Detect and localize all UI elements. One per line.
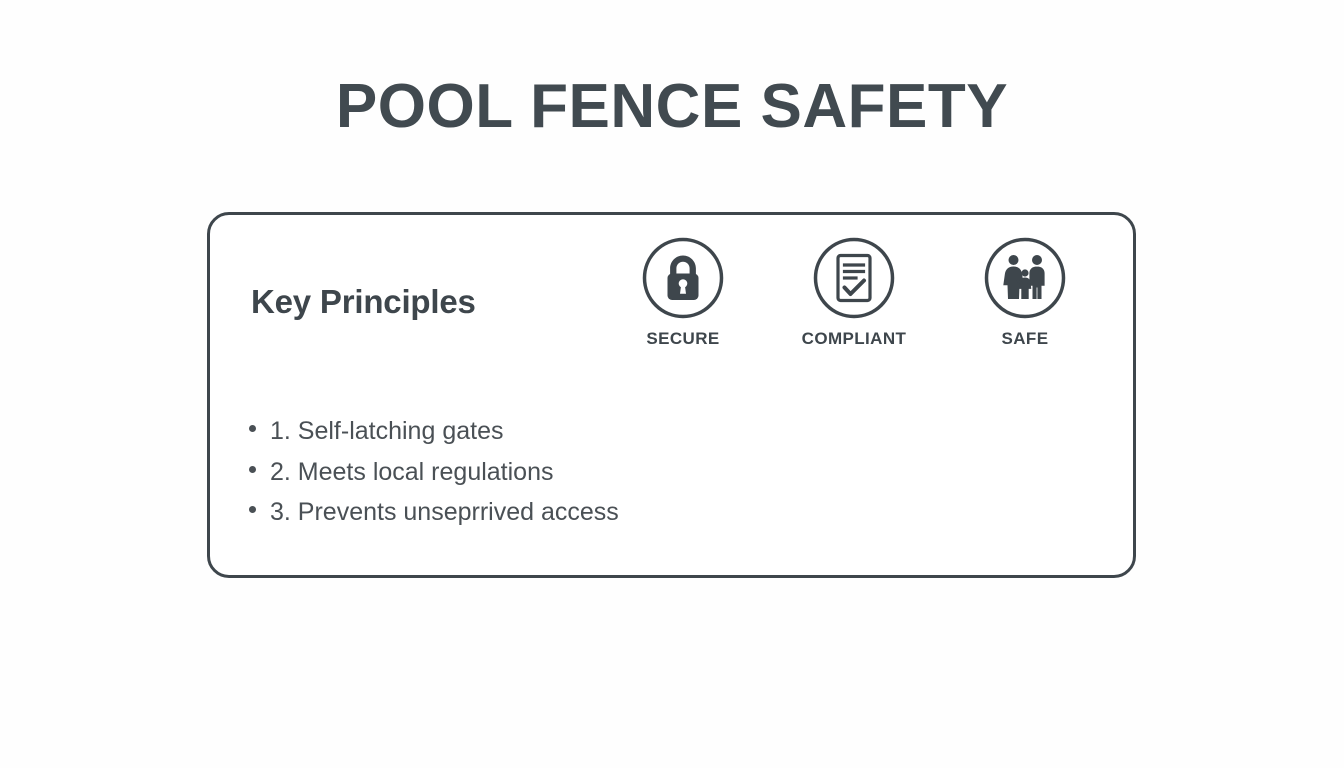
- page-title: POOL FENCE SAFETY: [0, 76, 1344, 138]
- key-principles-card: Key Principles SECURE: [207, 212, 1136, 578]
- family-icon: [984, 237, 1066, 319]
- bullet-dot-icon: [249, 466, 256, 473]
- badge-label: SECURE: [646, 329, 719, 349]
- badge-row: SECURE COMPLIANT: [608, 237, 1100, 377]
- badge-label: COMPLIANT: [802, 329, 907, 349]
- list-item: 3. Prevents unseprrived access: [249, 492, 619, 533]
- bullet-dot-icon: [249, 425, 256, 432]
- bullet-dot-icon: [249, 506, 256, 513]
- badge-label: SAFE: [1002, 329, 1049, 349]
- principles-list: 1. Self-latching gates 2. Meets local re…: [249, 411, 619, 533]
- lock-icon: [642, 237, 724, 319]
- list-item: 2. Meets local regulations: [249, 452, 619, 493]
- list-item-label: 2. Meets local regulations: [270, 452, 553, 493]
- list-item-label: 3. Prevents unseprrived access: [270, 492, 619, 533]
- card-heading: Key Principles: [251, 283, 476, 321]
- list-item-label: 1. Self-latching gates: [270, 411, 503, 452]
- slide-canvas: POOL FENCE SAFETY Key Principles SECURE: [0, 0, 1344, 768]
- badge-compliant: COMPLIANT: [779, 237, 929, 349]
- badge-safe: SAFE: [950, 237, 1100, 349]
- clipboard-check-icon: [813, 237, 895, 319]
- badge-secure: SECURE: [608, 237, 758, 349]
- list-item: 1. Self-latching gates: [249, 411, 619, 452]
